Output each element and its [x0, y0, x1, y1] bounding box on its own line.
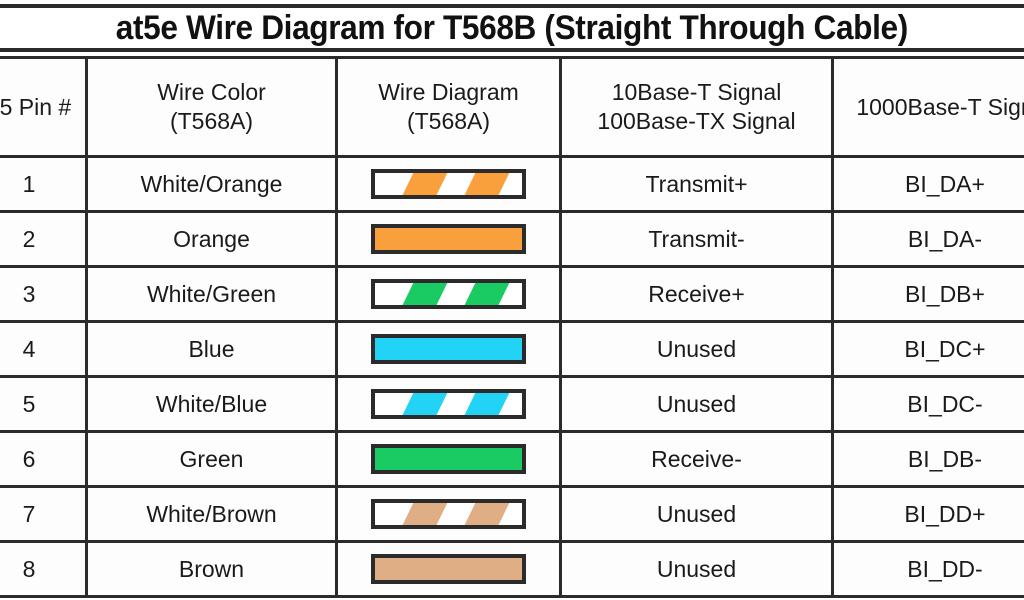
column-header-wire-diagram-line1: Wire Diagram	[342, 78, 555, 107]
table-row: 3White/GreenReceive+BI_DB+	[0, 267, 1024, 322]
table-row: 2OrangeTransmit-BI_DA-	[0, 212, 1024, 267]
signal-1000-cell: BI_DB-	[833, 432, 1024, 487]
pin-number-cell: 1	[0, 157, 87, 212]
signal-1000-cell: BI_DC+	[833, 322, 1024, 377]
wire-swatch-striped	[371, 279, 526, 309]
table-row: 4BlueUnusedBI_DC+	[0, 322, 1024, 377]
wiring-chart-page: at5e Wire Diagram for T568B (Straight Th…	[0, 0, 1024, 600]
wire-diagram-cell	[337, 267, 561, 322]
pin-number-cell: 4	[0, 322, 87, 377]
wire-diagram-cell	[337, 322, 561, 377]
header-row: 45 Pin # Wire Color (T568A) Wire Diagram…	[0, 58, 1024, 157]
signal-10-100-cell: Unused	[561, 487, 833, 542]
column-header-signal-1000-line2: 1000Base-T Sign	[838, 93, 1024, 122]
wire-stripe	[394, 169, 450, 199]
column-header-wire-diagram: Wire Diagram (T568A)	[337, 58, 561, 157]
wire-diagram-cell	[337, 487, 561, 542]
pin-number-cell: 5	[0, 377, 87, 432]
signal-1000-cell: BI_DA-	[833, 212, 1024, 267]
signal-10-100-cell: Unused	[561, 542, 833, 597]
table-row: 7White/BrownUnusedBI_DD+	[0, 487, 1024, 542]
wire-stripe	[456, 279, 512, 309]
wire-swatch-solid	[371, 554, 526, 584]
pin-number-cell: 7	[0, 487, 87, 542]
wire-diagram-cell	[337, 377, 561, 432]
table-row: 1White/OrangeTransmit+BI_DA+	[0, 157, 1024, 212]
wire-stripe	[394, 279, 450, 309]
signal-1000-cell: BI_DA+	[833, 157, 1024, 212]
signal-1000-cell: BI_DD-	[833, 542, 1024, 597]
pin-number-cell: 3	[0, 267, 87, 322]
wire-swatch-solid	[371, 334, 526, 364]
wire-swatch-striped	[371, 389, 526, 419]
pin-number-cell: 2	[0, 212, 87, 267]
column-header-wire-color-line1: Wire Color	[92, 78, 331, 107]
wire-color-cell: White/Orange	[87, 157, 337, 212]
wire-color-cell: White/Green	[87, 267, 337, 322]
wire-color-cell: Orange	[87, 212, 337, 267]
wire-stripe	[456, 499, 512, 529]
signal-10-100-cell: Transmit-	[561, 212, 833, 267]
signal-10-100-cell: Unused	[561, 322, 833, 377]
column-header-pin: 45 Pin #	[0, 58, 87, 157]
wire-stripe	[394, 499, 450, 529]
wire-diagram-cell	[337, 542, 561, 597]
column-header-pin-line2: 45 Pin #	[0, 93, 81, 122]
signal-10-100-cell: Unused	[561, 377, 833, 432]
column-header-wire-color-line2: (T568A)	[92, 107, 331, 136]
page-title: at5e Wire Diagram for T568B (Straight Th…	[116, 11, 908, 45]
wire-color-cell: White/Blue	[87, 377, 337, 432]
wire-stripe	[456, 169, 512, 199]
column-header-wire-color: Wire Color (T568A)	[87, 58, 337, 157]
wire-swatch-striped	[371, 499, 526, 529]
chart-title-bar: at5e Wire Diagram for T568B (Straight Th…	[0, 4, 1024, 52]
signal-10-100-cell: Receive-	[561, 432, 833, 487]
wire-color-cell: Green	[87, 432, 337, 487]
signal-10-100-cell: Receive+	[561, 267, 833, 322]
signal-1000-cell: BI_DB+	[833, 267, 1024, 322]
table-row: 5White/BlueUnusedBI_DC-	[0, 377, 1024, 432]
wire-stripe	[394, 389, 450, 419]
pin-number-cell: 8	[0, 542, 87, 597]
column-header-signal-10-100-line1: 10Base-T Signal	[566, 78, 827, 107]
table-body: 1White/OrangeTransmit+BI_DA+2OrangeTrans…	[0, 157, 1024, 597]
signal-1000-cell: BI_DD+	[833, 487, 1024, 542]
wire-diagram-cell	[337, 432, 561, 487]
wire-color-cell: Brown	[87, 542, 337, 597]
column-header-signal-10-100: 10Base-T Signal 100Base-TX Signal	[561, 58, 833, 157]
wire-color-cell: White/Brown	[87, 487, 337, 542]
table-row: 8BrownUnusedBI_DD-	[0, 542, 1024, 597]
table-row: 6GreenReceive-BI_DB-	[0, 432, 1024, 487]
column-header-wire-diagram-line2: (T568A)	[342, 107, 555, 136]
wire-swatch-striped	[371, 169, 526, 199]
signal-10-100-cell: Transmit+	[561, 157, 833, 212]
wire-diagram-cell	[337, 212, 561, 267]
column-header-signal-10-100-line2: 100Base-TX Signal	[566, 107, 827, 136]
column-header-signal-1000: 1000Base-T Sign	[833, 58, 1024, 157]
wire-diagram-table: 45 Pin # Wire Color (T568A) Wire Diagram…	[0, 56, 1024, 598]
wire-swatch-solid	[371, 444, 526, 474]
pin-number-cell: 6	[0, 432, 87, 487]
wire-swatch-solid	[371, 224, 526, 254]
wire-table-container: 45 Pin # Wire Color (T568A) Wire Diagram…	[0, 56, 1024, 600]
wire-diagram-cell	[337, 157, 561, 212]
table-header: 45 Pin # Wire Color (T568A) Wire Diagram…	[0, 58, 1024, 157]
signal-1000-cell: BI_DC-	[833, 377, 1024, 432]
wire-stripe	[456, 389, 512, 419]
wire-color-cell: Blue	[87, 322, 337, 377]
